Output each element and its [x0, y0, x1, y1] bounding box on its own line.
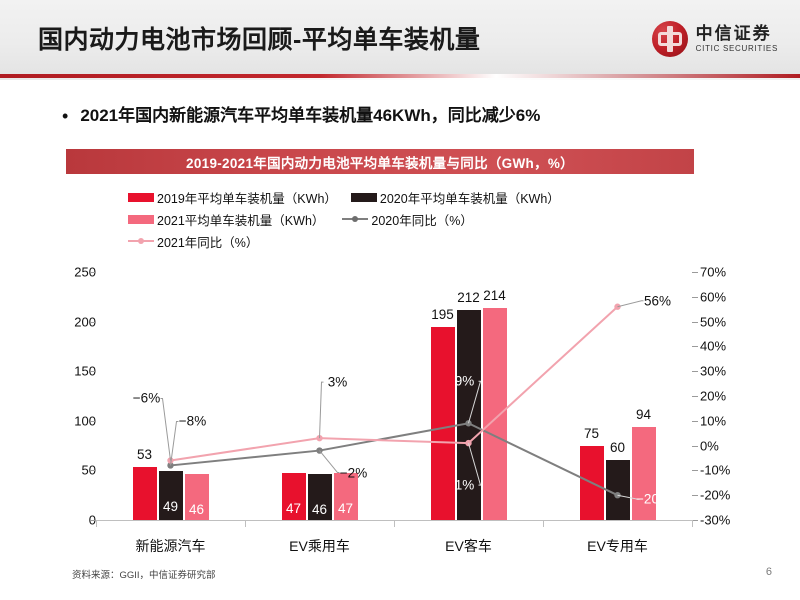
x-axis-category-label: 新能源汽车: [96, 536, 246, 556]
chart-annotation-label: −2%: [340, 465, 367, 480]
chart-legend: 2019年平均单车装机量（KWh） 2020年平均单车装机量（KWh） 2021…: [128, 186, 728, 252]
slide: 国内动力电池市场回顾-平均单车装机量 中信证券 CITIC SECURITIES…: [0, 0, 800, 600]
legend-row-2: 2021平均单车装机量（KWh） 2020年同比（%）: [128, 208, 728, 230]
brand-logo-text: 中信证券 CITIC SECURITIES: [696, 25, 778, 53]
page-title: 国内动力电池市场回顾-平均单车装机量: [38, 20, 480, 56]
chart-annotation-label: 3%: [328, 375, 348, 390]
legend-item-2021-line: 2021年同比（%）: [128, 232, 258, 251]
y2-axis-tick-label: 70%: [700, 265, 752, 280]
legend-item-2021-bar: 2021平均单车装机量（KWh）: [128, 210, 324, 229]
legend-label: 2021年同比（%）: [157, 232, 258, 251]
y2-axis-tick-mark: [692, 346, 698, 347]
brand-name-en: CITIC SECURITIES: [696, 45, 778, 53]
chart-lines: [96, 272, 692, 520]
y2-axis-tick-mark: [692, 272, 698, 273]
chart-line-marker: [614, 492, 620, 498]
legend-swatch-icon: [128, 193, 154, 202]
legend-swatch-icon: [128, 215, 154, 224]
legend-swatch-icon: [351, 193, 377, 202]
slide-header: 国内动力电池市场回顾-平均单车装机量 中信证券 CITIC SECURITIES: [0, 0, 800, 78]
y2-axis-tick-label: 50%: [700, 314, 752, 329]
y2-axis-tick-mark: [692, 470, 698, 471]
x-axis-tick-mark: [245, 520, 246, 527]
y-axis-tick-mark: [90, 272, 96, 273]
legend-label: 2020年平均单车装机量（KWh）: [380, 188, 560, 207]
legend-row-1: 2019年平均单车装机量（KWh） 2020年平均单车装机量（KWh）: [128, 186, 728, 208]
x-axis-tick-mark: [543, 520, 544, 527]
legend-item-2020-line: 2020年同比（%）: [342, 210, 472, 229]
legend-label: 2020年同比（%）: [371, 210, 472, 229]
legend-row-3: 2021年同比（%）: [128, 230, 728, 252]
y2-axis-tick-label: 40%: [700, 339, 752, 354]
y2-axis-tick-mark: [692, 322, 698, 323]
y-axis-tick-mark: [90, 322, 96, 323]
legend-line-marker-icon: [342, 214, 368, 224]
brand-name-cn: 中信证券: [696, 25, 778, 42]
chart-annotation-label: −20%: [636, 492, 671, 507]
y2-axis-tick-mark: [692, 371, 698, 372]
page-number: 6: [766, 566, 772, 578]
header-divider-shadow: [0, 78, 800, 80]
y2-axis-tick-mark: [692, 396, 698, 397]
chart-plot-area: 534719575494621260464721494−6%−8%3%−2%9%…: [96, 272, 692, 520]
y2-axis-tick-label: -20%: [700, 488, 752, 503]
bullet-text: 2021年国内新能源汽车平均单车装机量46KWh，同比减少6%: [80, 105, 540, 127]
chart-annotation-label: −6%: [133, 391, 160, 406]
x-axis-category-label: EV专用车: [543, 536, 693, 556]
brand-logo: 中信证券 CITIC SECURITIES: [652, 16, 778, 62]
y-axis-tick-mark: [90, 371, 96, 372]
y2-axis-tick-label: -10%: [700, 463, 752, 478]
legend-item-2019-bar: 2019年平均单车装机量（KWh）: [128, 188, 337, 207]
y2-axis-tick-label: 0%: [700, 438, 752, 453]
legend-label: 2019年平均单车装机量（KWh）: [157, 188, 337, 207]
chart-annotation-label: 56%: [644, 293, 671, 308]
y2-axis-tick-mark: [692, 421, 698, 422]
chart-line-marker: [316, 447, 322, 453]
y2-axis-tick-label: -30%: [700, 513, 752, 528]
legend-label: 2021平均单车装机量（KWh）: [157, 210, 324, 229]
y2-axis-tick-mark: [692, 446, 698, 447]
chart-line-marker: [465, 440, 471, 446]
chart-title: 2019-2021年国内动力电池平均单车装机量与同比（GWh，%）: [66, 149, 694, 174]
y-axis-tick-mark: [90, 470, 96, 471]
y2-axis-tick-label: 10%: [700, 413, 752, 428]
chart-line-marker: [614, 304, 620, 310]
source-note: 资料来源：GGII，中信证券研究部: [72, 567, 216, 581]
y2-axis-tick-label: 20%: [700, 389, 752, 404]
legend-line-marker-icon: [128, 236, 154, 246]
x-axis-tick-mark: [96, 520, 97, 527]
y2-axis-tick-label: 60%: [700, 289, 752, 304]
y2-axis-tick-label: 30%: [700, 364, 752, 379]
legend-item-2020-bar: 2020年平均单车装机量（KWh）: [351, 188, 560, 207]
citic-logo-icon: [652, 21, 688, 57]
chart-line-marker: [167, 457, 173, 463]
x-axis-category-label: EV乘用车: [245, 536, 395, 556]
chart-annotation-label: 9%: [455, 374, 475, 389]
y2-axis-tick-mark: [692, 495, 698, 496]
bullet-marker: •: [62, 105, 68, 127]
chart-annotation-label: −8%: [179, 414, 206, 429]
chart-line-marker: [316, 435, 322, 441]
x-axis-category-label: EV客车: [394, 536, 544, 556]
bullet-point: • 2021年国内新能源汽车平均单车装机量46KWh，同比减少6%: [62, 105, 540, 127]
y-axis-tick-mark: [90, 421, 96, 422]
chart-line-marker: [465, 420, 471, 426]
chart-line-series: [171, 423, 618, 495]
chart-annotation-label: 1%: [455, 478, 475, 493]
x-axis-tick-mark: [394, 520, 395, 527]
y2-axis-tick-mark: [692, 297, 698, 298]
x-axis-tick-mark: [692, 520, 693, 527]
